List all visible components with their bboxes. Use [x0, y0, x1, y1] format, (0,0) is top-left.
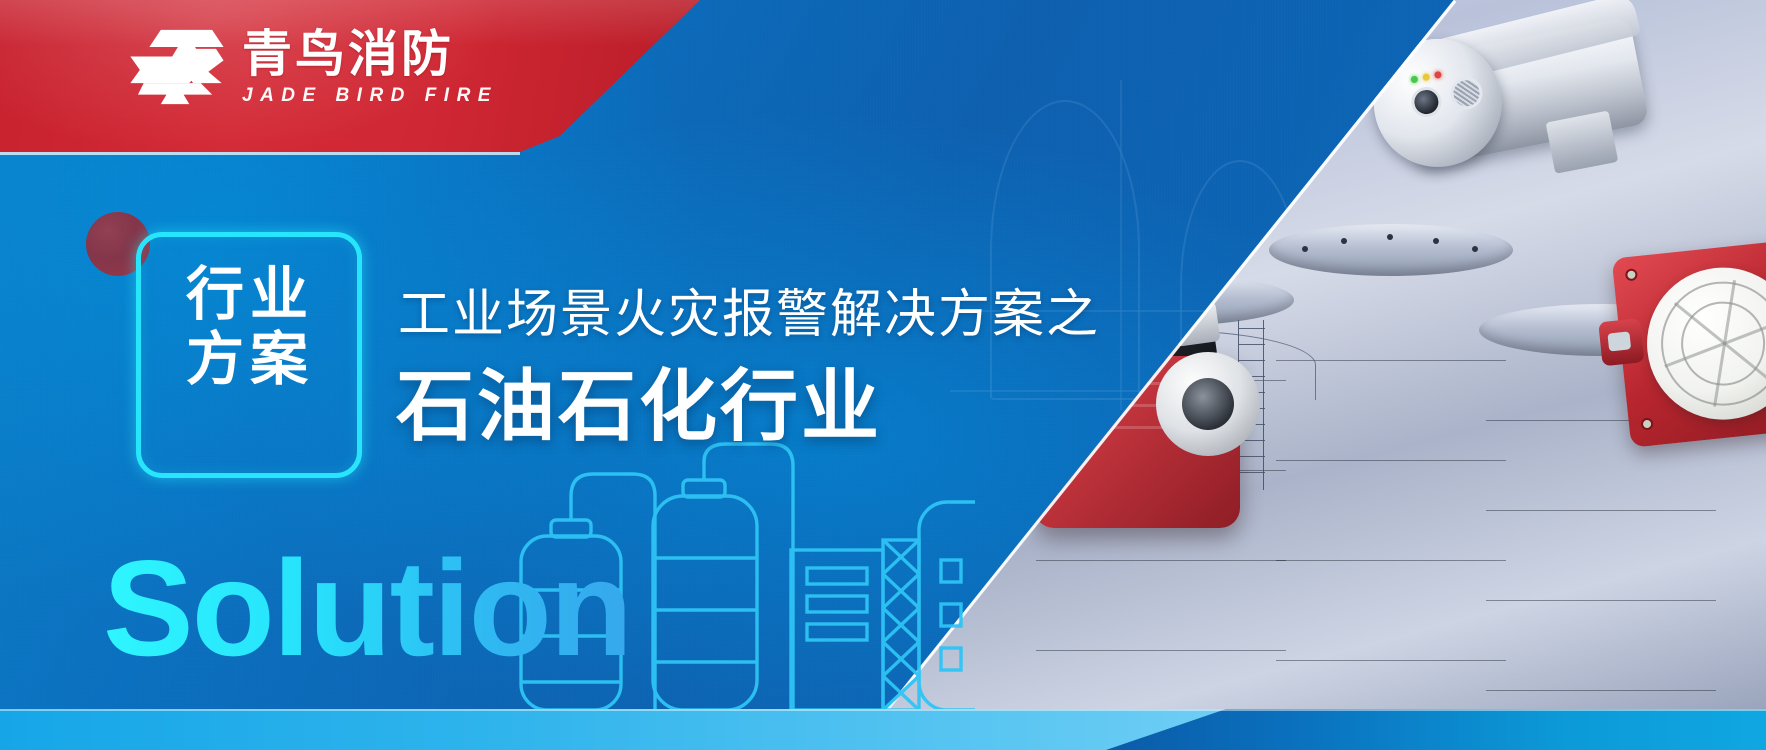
header-underline: [0, 152, 520, 155]
tank-bolt-row: [1294, 230, 1487, 256]
brand-name-en: JADE BIRD FIRE: [242, 85, 498, 107]
brand-logo-text: 青鸟消防 JADE BIRD FIRE: [242, 28, 498, 107]
camera-lens-icon: [1409, 84, 1444, 119]
headline-title: 石油石化行业: [396, 344, 882, 456]
badge-line-2: 方案: [150, 327, 350, 392]
camera-sensor-mesh: [1448, 75, 1486, 113]
bottom-bar-highlight: [0, 709, 1766, 711]
brand-logo[interactable]: 青鸟消防 JADE BIRD FIRE: [128, 28, 498, 107]
solution-watermark: Solution: [103, 540, 631, 676]
industry-solution-badge-text: 行业 方案: [150, 262, 350, 392]
headline-subtitle: 工业场景火灾报警解决方案之: [398, 272, 1100, 347]
jade-bird-arrow-mark-icon: [128, 28, 224, 106]
brand-name-cn: 青鸟消防: [242, 28, 498, 81]
solution-banner: 青鸟消防 JADE BIRD FIRE 行业 方案 工业场景火灾报警解决方案之 …: [0, 0, 1766, 750]
storage-tank: [1276, 250, 1506, 709]
badge-line-1: 行业: [150, 262, 350, 327]
smoke-detector: [1612, 238, 1766, 447]
